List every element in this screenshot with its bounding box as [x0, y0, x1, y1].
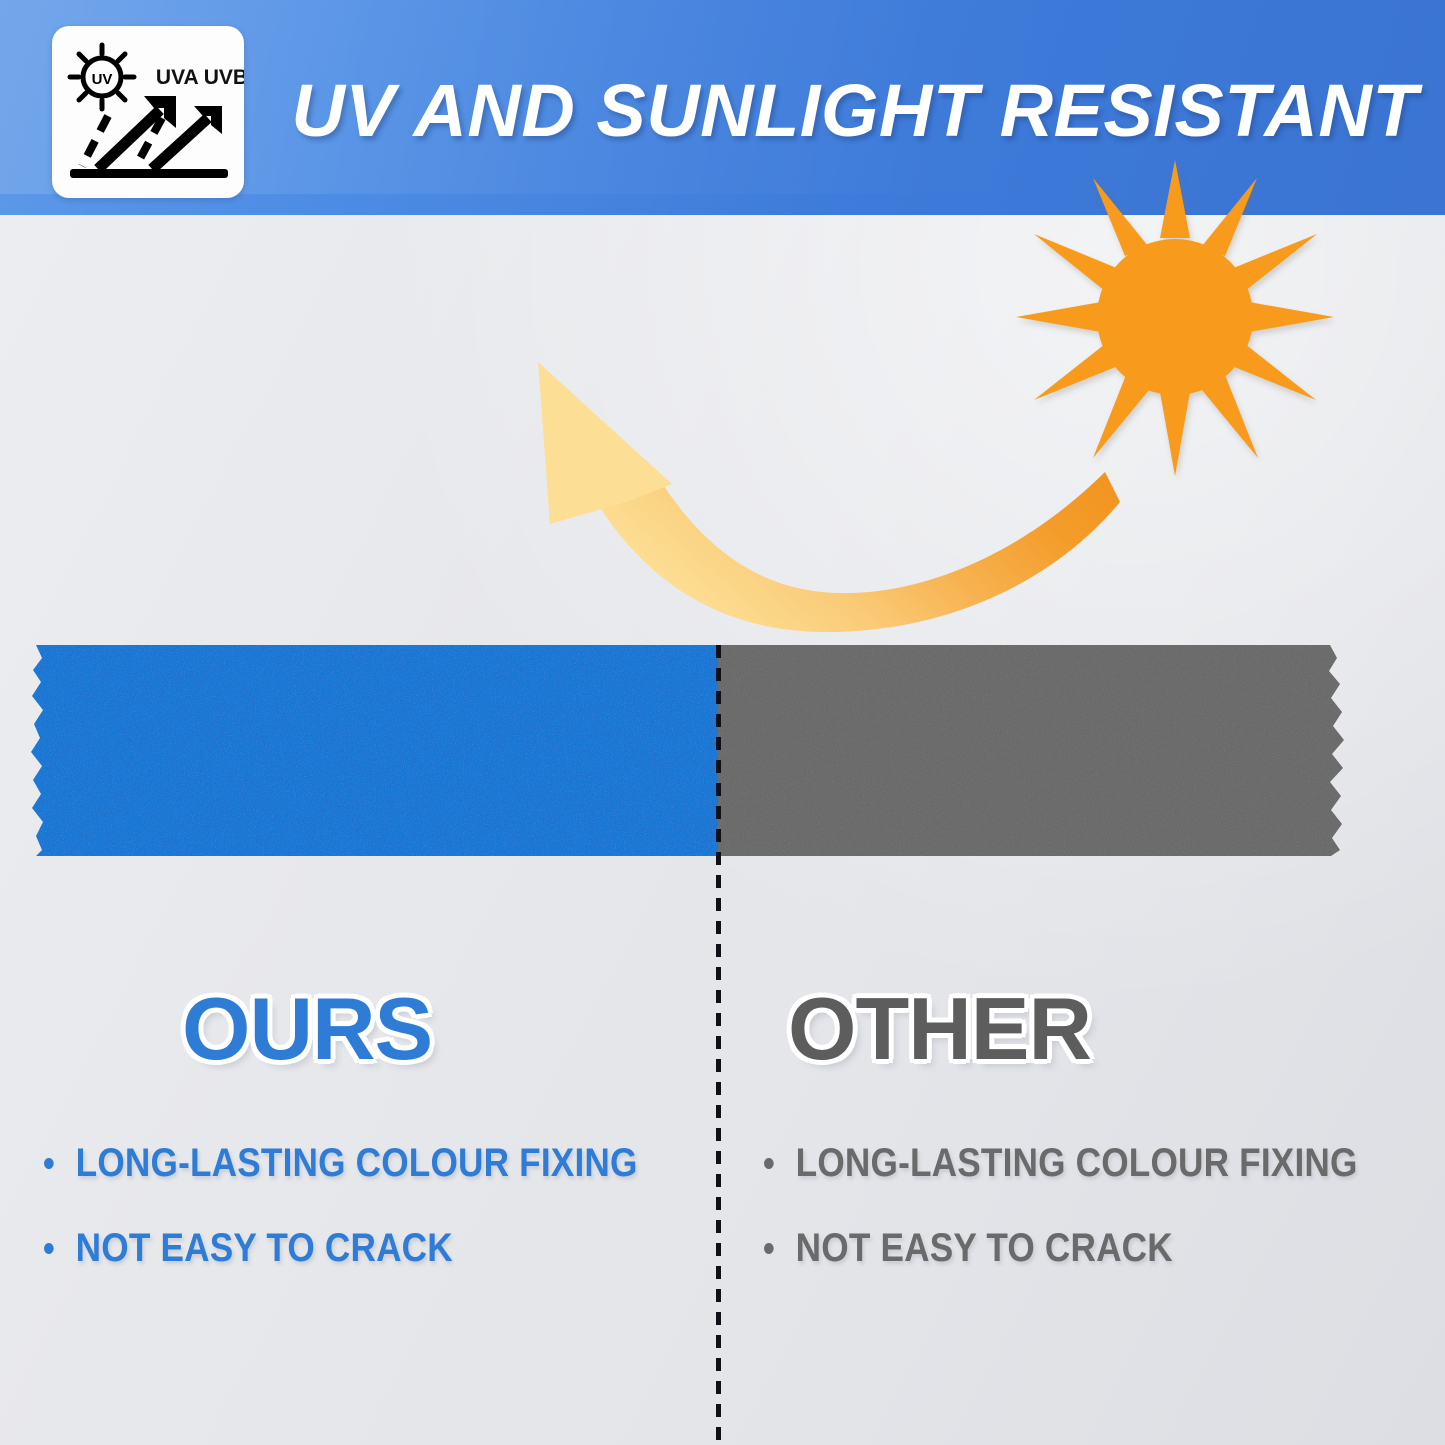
- surface-baseline: [70, 169, 228, 178]
- ours-column: OURS LONG-LASTING COLOUR FIXING NOT EASY…: [0, 985, 718, 1311]
- ours-feature-list: LONG-LASTING COLOUR FIXING NOT EASY TO C…: [44, 1141, 718, 1271]
- list-item: LONG-LASTING COLOUR FIXING: [764, 1141, 1363, 1186]
- blue-tape-strip: [20, 640, 720, 865]
- uv-sun-label: UV: [92, 71, 113, 88]
- list-item-label: LONG-LASTING COLOUR FIXING: [76, 1141, 638, 1186]
- arrow-ribbon: [595, 472, 1120, 632]
- bullet-dot-icon: [764, 1243, 774, 1254]
- bullet-dot-icon: [44, 1158, 54, 1169]
- list-item-label: NOT EASY TO CRACK: [796, 1226, 1173, 1271]
- uv-protection-icon: UV UVA UVB: [52, 26, 244, 198]
- ours-heading: OURS: [182, 985, 718, 1073]
- other-heading: OTHER: [788, 985, 1445, 1073]
- poster-canvas: UV AND SUNLIGHT RESISTANT UV UVA UVB: [0, 0, 1445, 1445]
- tape-comparison-strips: [0, 640, 1445, 865]
- bullet-dot-icon: [764, 1158, 774, 1169]
- reflected-ray-arrow-icon: [520, 352, 1120, 642]
- uva-uvb-label: UVA UVB: [156, 66, 244, 89]
- other-column: OTHER LONG-LASTING COLOUR FIXING NOT EAS…: [718, 985, 1445, 1311]
- list-item-label: LONG-LASTING COLOUR FIXING: [796, 1141, 1358, 1186]
- list-item: NOT EASY TO CRACK: [764, 1226, 1363, 1271]
- reflected-arrow-2: [152, 106, 222, 169]
- list-item: NOT EASY TO CRACK: [44, 1226, 637, 1271]
- other-feature-list: LONG-LASTING COLOUR FIXING NOT EASY TO C…: [764, 1141, 1445, 1271]
- list-item-label: NOT EASY TO CRACK: [76, 1226, 453, 1271]
- sun-core: [1097, 239, 1253, 395]
- page-title: UV AND SUNLIGHT RESISTANT: [268, 56, 1418, 164]
- gray-tape-strip: [716, 640, 1356, 865]
- list-item: LONG-LASTING COLOUR FIXING: [44, 1141, 637, 1186]
- uv-protection-badge: UV UVA UVB: [52, 26, 244, 198]
- bullet-dot-icon: [44, 1243, 54, 1254]
- reflected-ray-arrow: [520, 352, 1120, 642]
